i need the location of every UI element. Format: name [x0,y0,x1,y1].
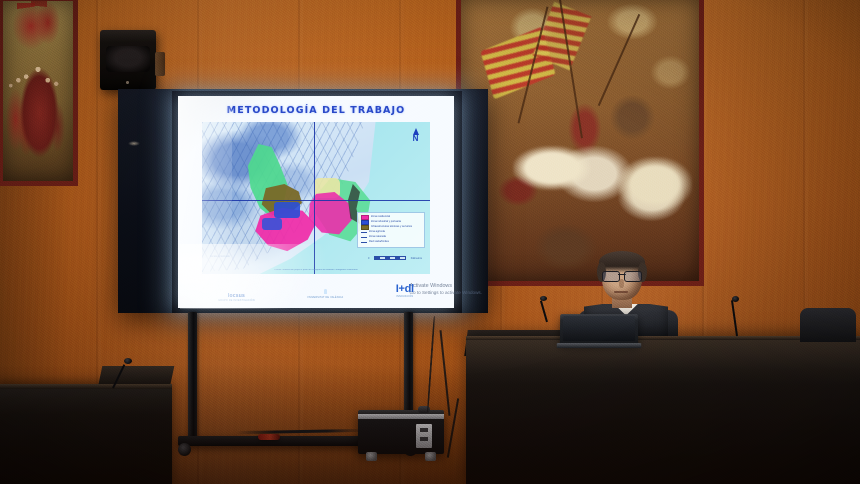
logo-universitat: VNIVERSITAT DE VALÈNCIA [307,283,343,300]
legend-swatch-natural [361,237,367,238]
wall-speaker [100,30,156,90]
logo-locsus-subtitle: GRUPO DE INVESTIGACIÓN [218,300,255,302]
legend-row: Red viaria/límites [361,240,421,245]
logo-idl-name: I+dl [396,284,414,295]
map-scale-units: Kilómetros [411,257,422,260]
speaker-led-icon [126,81,129,84]
presenter-laptop[interactable] [560,314,638,344]
map-scale-min: 0 [368,257,369,260]
slide-content: METODOLOGÍA DEL TRABAJO N [178,96,454,308]
map-zone-industrial [274,202,300,218]
university-crest-icon [319,283,332,296]
speaker-cone-icon [106,46,150,72]
legend-swatch-roads [361,242,367,243]
tapestry-left-frame [0,0,78,186]
microphone-icon [732,296,739,302]
glasses-icon [601,271,643,280]
slide-map-figure: N Zona residencial Zona industrial y por… [202,122,430,274]
map-source-note: Fuente: elaboración propia a partir de c… [210,269,422,271]
map-grid-line-vertical [314,122,315,274]
legend-swatch-infrastructure [361,225,369,230]
map-scale-bar-graphic [374,256,406,260]
microphone-icon [540,296,547,301]
chair-backrest [800,308,856,342]
map-zone-industrial [262,218,282,230]
tapestry-left [0,0,78,186]
map-grid-line-horizontal [202,200,430,201]
slide-title: METODOLOGÍA DEL TRABAJO [178,105,454,116]
tapestry-right-frame [456,0,704,286]
logo-idl: I+dl INNOVACIÓN [396,284,414,298]
map-inset-label: Escala aproximada [210,256,230,258]
slide-logo-row: locsus GRUPO DE INVESTIGACIÓN VNIVERSITA… [178,278,454,304]
laptop-lid [563,316,635,341]
display-indicator-icon [128,141,140,146]
presentation-display[interactable]: METODOLOGÍA DEL TRABAJO N [118,89,488,313]
legend-label: Red viaria/límites [369,240,421,245]
floor-shadow [0,364,860,484]
map-legend: Zona residencial Zona industrial y portu… [357,212,425,248]
screenshot-root: METODOLOGÍA DEL TRABAJO N [0,0,860,484]
map-scale-bar: 0 Kilómetros [368,254,422,262]
tapestry-right [456,0,704,286]
glasses-lens-left [602,271,620,282]
logo-locsus: locsus GRUPO DE INVESTIGACIÓN [218,280,255,302]
north-arrow-icon: N [411,128,420,144]
legend-swatch-agricultural [361,232,367,233]
glasses-lens-right [624,271,642,282]
logo-idl-subtitle: INNOVACIÓN [396,296,413,298]
spiral-icon [230,280,243,293]
logo-universitat-subtitle: VNIVERSITAT DE VALÈNCIA [307,297,343,299]
presenter-nose [619,279,624,288]
speaker-bracket [155,52,165,76]
north-arrow-label: N [413,134,419,143]
laptop-hinge [557,343,642,348]
